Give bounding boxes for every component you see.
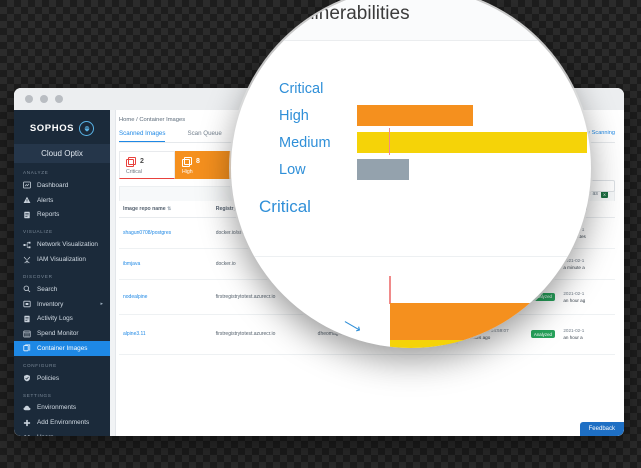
- sidebar-item-dashboard[interactable]: Dashboard: [14, 178, 110, 193]
- sidebar-item-label: Dashboard: [37, 182, 68, 189]
- sidebar-group-configure: CONFIGURE: [14, 356, 110, 371]
- sidebar-item-container-images[interactable]: Container Images: [14, 341, 110, 356]
- sidebar: SOPHOS Cloud Optix ANALYZE Dashboard Ale…: [14, 110, 110, 436]
- cell-repo[interactable]: shagun0708/postgres: [119, 218, 212, 249]
- plus-icon: [23, 419, 31, 427]
- sidebar-group-visualize: VISUALIZE: [14, 222, 110, 237]
- sidebar-item-users[interactable]: Users: [14, 430, 110, 436]
- magnified-chart: Critical High Medium Low: [231, 41, 591, 183]
- sidebar-group-analyze: ANALYZE: [14, 163, 110, 178]
- chart-label-critical-secondary: Critical: [259, 197, 311, 216]
- chart-axis-tick-secondary: [389, 276, 391, 304]
- cell-repo[interactable]: alpine3.11: [119, 314, 212, 354]
- sidebar-item-network-visualization[interactable]: Network Visualization: [14, 237, 110, 252]
- chart-label-critical: Critical: [279, 81, 357, 97]
- sidebar-item-environments[interactable]: Environments: [14, 401, 110, 416]
- sidebar-item-label: Container Images: [37, 345, 87, 352]
- cell-registry: firstregistrytotest.azurecr.io: [212, 314, 314, 354]
- sidebar-item-label: Reports: [37, 211, 59, 218]
- breadcrumb-current: Container Images: [139, 117, 185, 123]
- summary-card-label: High: [182, 169, 224, 175]
- chart-bar-high-secondary: [390, 303, 568, 345]
- sidebar-item-label: Inventory: [37, 301, 63, 308]
- sidebar-item-add-environments[interactable]: Add Environments: [14, 415, 110, 430]
- sidebar-item-alerts[interactable]: Alerts: [14, 193, 110, 208]
- search-icon: [23, 285, 31, 293]
- chart-bar-medium: [357, 132, 587, 153]
- sidebar-item-label: Add Environments: [37, 419, 89, 426]
- last-scan-date: 2021-02-1: [563, 328, 611, 333]
- sort-icon[interactable]: ⇅: [167, 206, 171, 212]
- last-scan-date: 2021-02-1: [563, 291, 611, 296]
- sophos-shield-icon: [79, 121, 94, 136]
- chart-bar-medium-secondary: [390, 340, 568, 348]
- last-scan-relative: a minute a: [563, 265, 611, 270]
- summary-card-critical[interactable]: 2 Critical: [119, 151, 175, 179]
- sidebar-item-label: Spend Monitor: [37, 330, 79, 337]
- sidebar-item-label: Environments: [37, 404, 76, 411]
- magnified-second-row: Critical: [231, 183, 591, 217]
- column-label: Image repo name: [123, 206, 166, 212]
- report-icon: [23, 211, 31, 219]
- sidebar-item-inventory[interactable]: Inventory ▸: [14, 297, 110, 312]
- chart-row-low: Low: [279, 156, 591, 183]
- panel-divider: [231, 0, 278, 40]
- activity-log-icon: [23, 315, 31, 323]
- sidebar-item-policies[interactable]: Policies: [14, 371, 110, 386]
- spend-monitor-icon: [23, 330, 31, 338]
- chart-bar-high: [357, 105, 473, 126]
- repo-link[interactable]: alpine3.11: [123, 331, 146, 337]
- tab-scanned-images[interactable]: Scanned Images: [119, 130, 165, 142]
- last-scan-date: 2021-02-1: [563, 258, 611, 263]
- users-icon: [23, 434, 31, 436]
- summary-card-count: 2: [140, 158, 144, 165]
- feedback-button[interactable]: Feedback: [580, 422, 624, 436]
- sidebar-item-reports[interactable]: Reports: [14, 208, 110, 223]
- stack-icon: [182, 157, 190, 165]
- stack-icon: [126, 157, 134, 165]
- sidebar-item-label: Search: [37, 286, 57, 293]
- magnified-row-divider: [231, 256, 591, 257]
- magnified-panel-header: Vulnerabilities: [231, 0, 591, 41]
- cell-repo[interactable]: ibmjava: [119, 249, 212, 280]
- summary-card-high[interactable]: 8 High: [175, 151, 231, 179]
- iam-icon: [23, 256, 31, 264]
- sophos-logo-text: SOPHOS: [30, 123, 74, 134]
- column-header-image-repo-name[interactable]: Image repo name ⇅: [119, 201, 212, 218]
- sidebar-item-label: Activity Logs: [37, 315, 73, 322]
- chart-label-high: High: [279, 108, 357, 124]
- window-close-dot[interactable]: [25, 95, 33, 103]
- tab-scan-queue[interactable]: Scan Queue: [187, 130, 221, 142]
- chart-row-medium: Medium: [279, 129, 591, 156]
- cloud-icon: [23, 404, 31, 412]
- magnifier-lens: Vulnerabilities Critical High Medium Low: [231, 0, 591, 348]
- dashboard-icon: [23, 181, 31, 189]
- policies-shield-icon: [23, 374, 31, 382]
- column-label: Registry: [216, 206, 237, 212]
- inventory-icon: [23, 300, 31, 308]
- summary-card-count: 8: [196, 158, 200, 165]
- sidebar-item-search[interactable]: Search: [14, 282, 110, 297]
- sidebar-item-label: Alerts: [37, 197, 53, 204]
- cursor-arrow-icon: ⟶: [340, 314, 364, 337]
- chart-row-critical: Critical: [279, 75, 591, 102]
- sidebar-item-iam-visualization[interactable]: IAM Visualization: [14, 252, 110, 267]
- chart-label-low: Low: [279, 162, 357, 178]
- sidebar-group-discover: DISCOVER: [14, 267, 110, 282]
- repo-link[interactable]: ibmjava: [123, 261, 140, 267]
- sidebar-item-activity-logs[interactable]: Activity Logs: [14, 311, 110, 326]
- chevron-right-icon: ▸: [100, 301, 103, 307]
- chart-axis-critical-tick: [389, 128, 390, 155]
- breadcrumb-separator: /: [136, 117, 138, 123]
- alert-triangle-icon: [23, 196, 31, 204]
- repo-link[interactable]: nodealpine: [123, 294, 147, 300]
- sidebar-item-label: Policies: [37, 375, 59, 382]
- window-maximize-dot[interactable]: [55, 95, 63, 103]
- breadcrumb-home[interactable]: Home: [119, 117, 134, 123]
- chart-row-high: High: [279, 102, 591, 129]
- window-minimize-dot[interactable]: [40, 95, 48, 103]
- network-icon: [23, 241, 31, 249]
- last-scan-relative: an hour ag: [563, 298, 611, 303]
- container-images-icon: [23, 344, 31, 352]
- sidebar-item-label: Network Visualization: [37, 241, 98, 248]
- sophos-logo[interactable]: SOPHOS: [14, 110, 110, 144]
- sidebar-item-label: Users: [37, 434, 54, 436]
- product-name: Cloud Optix: [14, 144, 110, 163]
- screenshot-stage: SOPHOS Cloud Optix ANALYZE Dashboard Ale…: [0, 0, 641, 468]
- last-scan-relative: an hour a: [563, 335, 611, 340]
- chart-label-medium: Medium: [279, 135, 357, 151]
- magnified-panel-title: Vulnerabilities: [278, 3, 410, 25]
- sidebar-item-spend-monitor[interactable]: Spend Monitor: [14, 326, 110, 341]
- sidebar-item-label: IAM Visualization: [37, 256, 86, 263]
- chart-bar-low: [357, 159, 409, 180]
- summary-card-label: Critical: [126, 169, 168, 175]
- sidebar-group-settings: SETTINGS: [14, 386, 110, 401]
- cell-repo[interactable]: nodealpine: [119, 280, 212, 315]
- repo-link[interactable]: shagun0708/postgres: [123, 230, 171, 236]
